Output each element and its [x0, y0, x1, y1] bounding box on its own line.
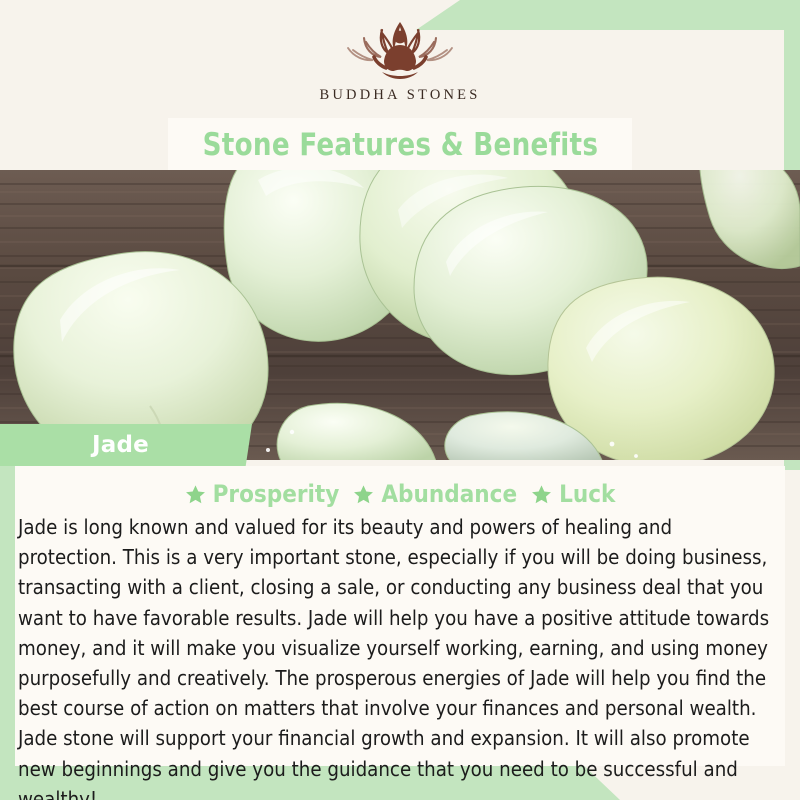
benefit-label: Prosperity: [213, 480, 340, 508]
brand-wordmark: BUDDHA STONES: [320, 87, 481, 104]
benefit-item: Luck: [531, 480, 615, 508]
benefit-label: Luck: [559, 480, 615, 508]
infographic-card: BUDDHA STONES Stone Features & Benefits: [0, 0, 800, 800]
star-icon: [531, 484, 552, 505]
jade-tumbled-stones-photo: [0, 170, 800, 460]
title-banner: Stone Features & Benefits: [168, 118, 632, 171]
star-icon: [353, 484, 374, 505]
brand-header: BUDDHA STONES: [0, 0, 800, 118]
benefit-item: Prosperity: [185, 480, 340, 508]
stone-name-label: Jade: [92, 432, 149, 458]
stone-name-bar: Jade: [0, 424, 252, 466]
star-icon: [185, 484, 206, 505]
benefits-row: Prosperity Abundance Luck: [0, 480, 800, 508]
benefit-item: Abundance: [353, 480, 517, 508]
lotus-meditation-icon: [324, 16, 476, 82]
benefit-label: Abundance: [381, 480, 517, 508]
page-title: Stone Features & Benefits: [202, 127, 598, 163]
stone-description: Jade is long known and valued for its be…: [18, 512, 773, 800]
